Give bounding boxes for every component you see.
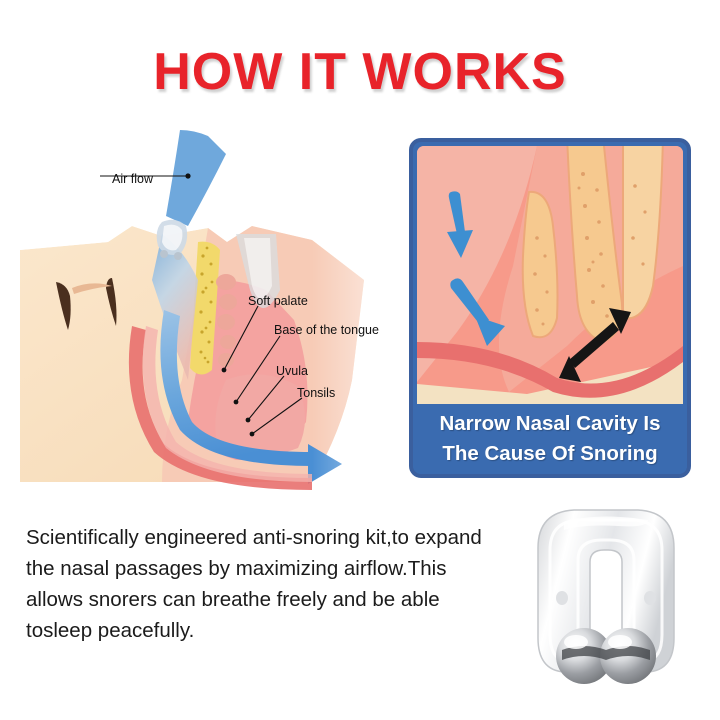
nasal-cavity-graphic bbox=[417, 146, 683, 408]
anatomy-illustration bbox=[12, 130, 412, 490]
description-paragraph: Scientifically engineered anti-snoring k… bbox=[26, 522, 496, 646]
head-cross-section-graphic bbox=[12, 130, 412, 490]
right-fade bbox=[312, 130, 412, 490]
inset-panel: Narrow Nasal Cavity Is The Cause Of Snor… bbox=[409, 138, 691, 478]
label-soft-palate: Soft palate bbox=[248, 294, 308, 308]
nose-clip-graphic bbox=[498, 492, 712, 692]
label-base-of-tongue: Base of the tongue bbox=[274, 323, 379, 337]
nasal-cavity-cross-section bbox=[417, 146, 683, 408]
clip-right-nub bbox=[644, 591, 656, 605]
magnet-left-glint bbox=[564, 635, 588, 649]
label-air-flow: Air flow bbox=[112, 172, 153, 186]
caption-line-1: Narrow Nasal Cavity Is bbox=[413, 409, 687, 439]
product-image bbox=[498, 492, 712, 692]
label-tonsils: Tonsils bbox=[297, 386, 335, 400]
magnet-right-glint bbox=[608, 635, 632, 649]
inset-caption: Narrow Nasal Cavity Is The Cause Of Snor… bbox=[413, 404, 687, 474]
label-uvula: Uvula bbox=[276, 364, 308, 378]
infographic-page: HOW IT WORKS bbox=[0, 0, 720, 720]
clip-left-nub bbox=[556, 591, 568, 605]
page-title: HOW IT WORKS bbox=[0, 42, 720, 102]
caption-line-2: The Cause Of Snoring bbox=[413, 439, 687, 469]
